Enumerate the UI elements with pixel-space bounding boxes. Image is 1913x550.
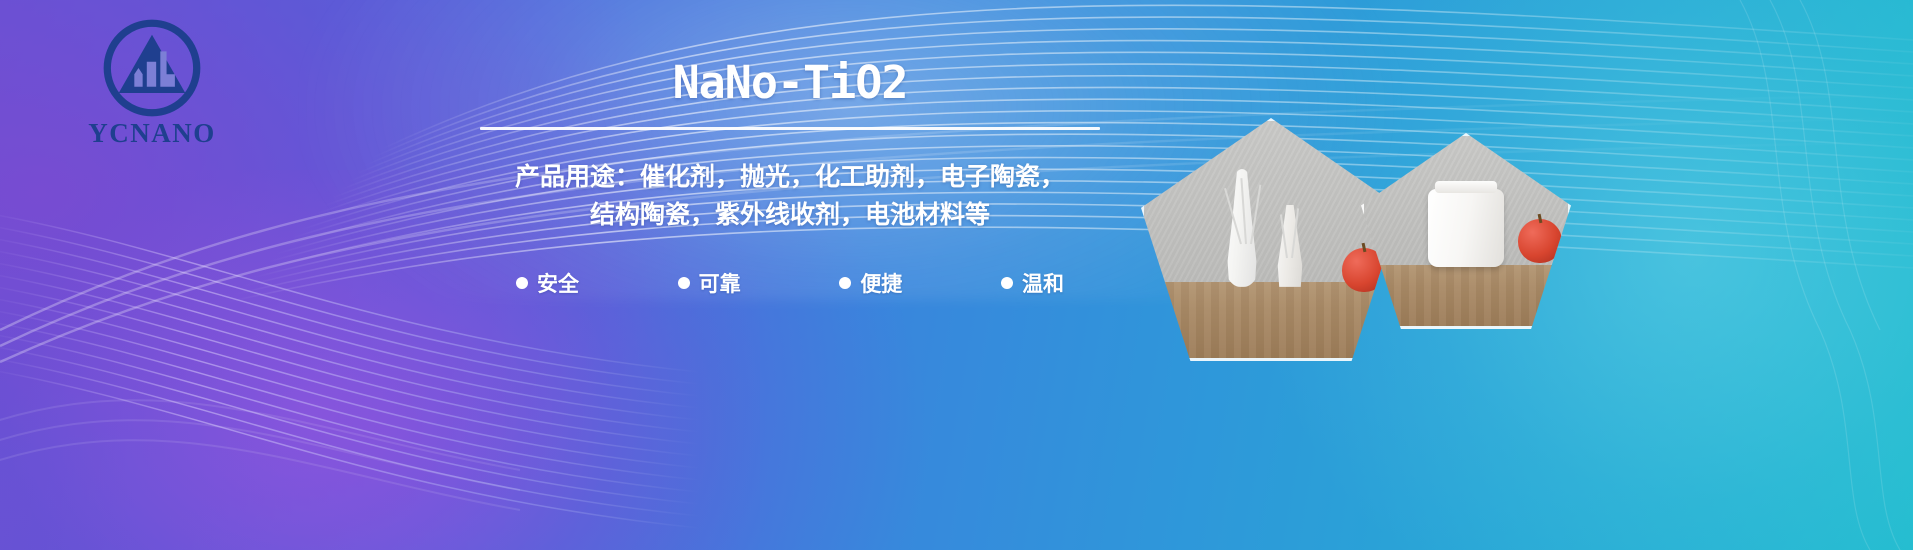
photo-wood-table bbox=[1364, 265, 1568, 326]
red-apple-prop bbox=[1518, 219, 1562, 263]
ycnano-mountain-circle-logo-icon bbox=[100, 16, 204, 120]
white-pigment-jar-photo bbox=[1361, 133, 1571, 329]
brand-wordmark: YCNANO bbox=[52, 118, 252, 149]
filled-circle-bullet-icon bbox=[516, 277, 528, 289]
brand-logo: YCNANO bbox=[52, 16, 252, 151]
filled-circle-bullet-icon bbox=[839, 277, 851, 289]
filled-circle-bullet-icon bbox=[678, 277, 690, 289]
feature-item-convenient: 便捷 bbox=[839, 268, 902, 298]
feature-label: 可靠 bbox=[699, 268, 741, 298]
feature-label: 温和 bbox=[1022, 268, 1064, 298]
product-usage-text: 产品用途：催化剂，抛光，化工助剂，电子陶瓷， 结构陶瓷，紫外线收剂，电池材料等 bbox=[480, 158, 1100, 234]
product-photo-group bbox=[1153, 0, 1913, 550]
product-title: NaNo-TiO2 bbox=[480, 60, 1100, 105]
feature-item-mild: 温和 bbox=[1001, 268, 1064, 298]
feature-item-reliable: 可靠 bbox=[678, 268, 741, 298]
product-banner: YCNANO NaNo-TiO2 产品用途：催化剂，抛光，化工助剂，电子陶瓷， … bbox=[0, 0, 1913, 550]
usage-line-1: 产品用途：催化剂，抛光，化工助剂，电子陶瓷， bbox=[480, 158, 1100, 196]
white-pigment-jar bbox=[1428, 189, 1504, 267]
title-divider bbox=[480, 127, 1100, 130]
white-ceramic-vases-photo bbox=[1141, 118, 1401, 361]
banner-content: NaNo-TiO2 产品用途：催化剂，抛光，化工助剂，电子陶瓷， 结构陶瓷，紫外… bbox=[480, 60, 1100, 298]
usage-line-2: 结构陶瓷，紫外线收剂，电池材料等 bbox=[480, 196, 1100, 234]
feature-label: 安全 bbox=[537, 268, 579, 298]
feature-item-safe: 安全 bbox=[516, 268, 579, 298]
feature-label: 便捷 bbox=[860, 268, 902, 298]
filled-circle-bullet-icon bbox=[1001, 277, 1013, 289]
feature-list: 安全 可靠 便捷 温和 bbox=[480, 268, 1100, 298]
jar-lid bbox=[1435, 181, 1497, 193]
photo-wood-table bbox=[1144, 282, 1398, 358]
